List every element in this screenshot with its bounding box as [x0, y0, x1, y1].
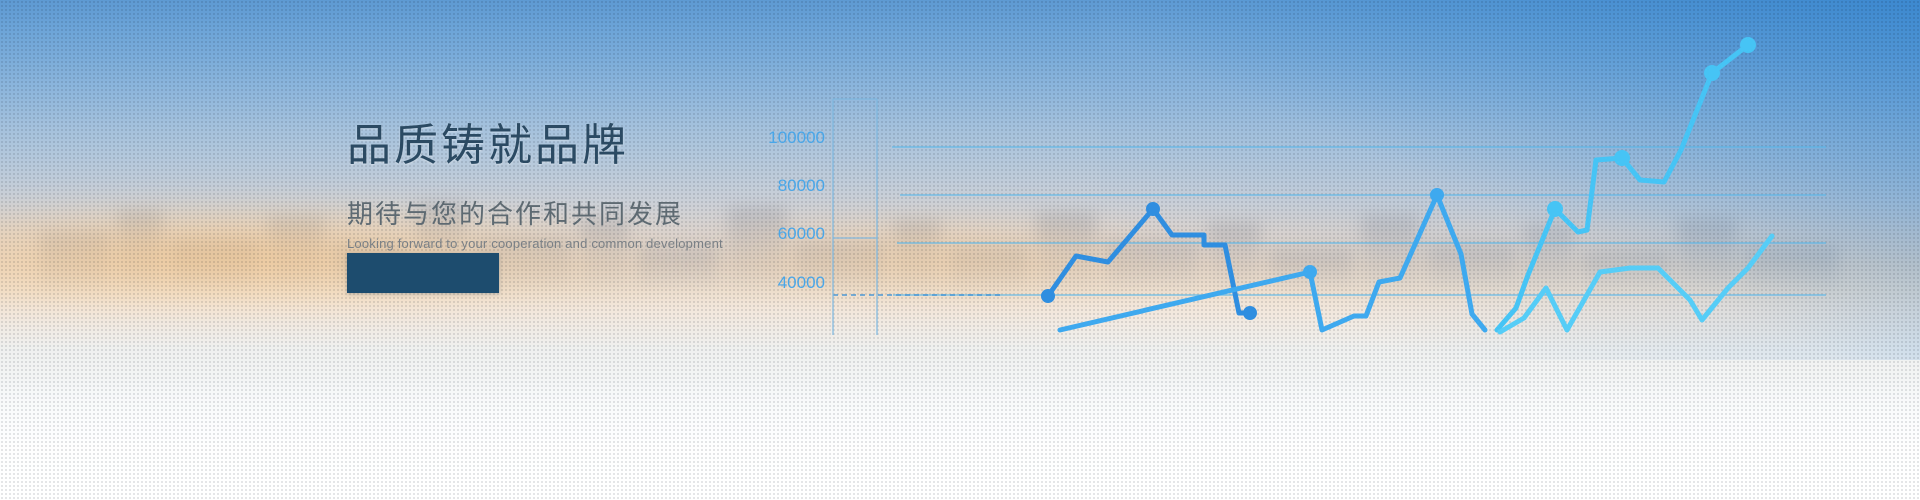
- chart-series-3: [1497, 45, 1748, 330]
- hero-subtitle: 期待与您的合作和共同发展: [347, 194, 987, 231]
- gridlines: [892, 147, 1826, 295]
- hero-copy: 品质铸就品牌 期待与您的合作和共同发展 Looking forward to y…: [347, 120, 987, 251]
- chart-series-4: [1500, 236, 1772, 332]
- page-title: 品质铸就品牌: [347, 120, 987, 172]
- hero-cta-button[interactable]: [347, 253, 499, 293]
- y-tick-label: 40000: [778, 273, 825, 292]
- chart-series-2-markers: [1303, 188, 1444, 279]
- chart-series-1: [1048, 209, 1250, 313]
- hero-banner: 100000 80000 60000 40000: [0, 0, 1920, 500]
- chart-series-2: [1060, 195, 1485, 330]
- hero-subtitle-en: Looking forward to your cooperation and …: [347, 236, 987, 251]
